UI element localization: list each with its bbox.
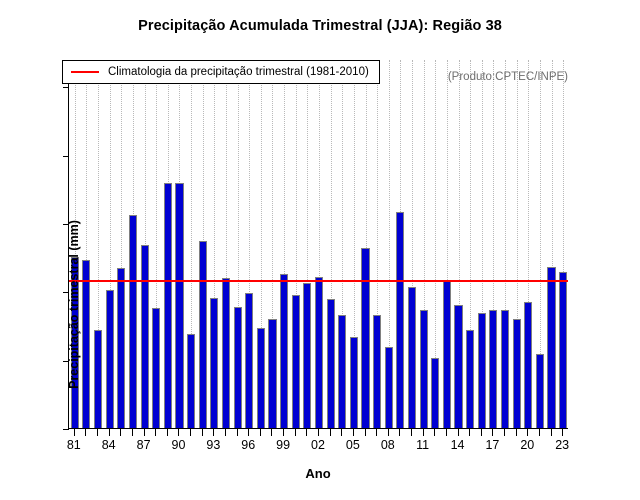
bar: [315, 277, 323, 428]
x-tick-mark: [318, 429, 319, 436]
bar: [141, 245, 149, 428]
x-tick-mark: [295, 429, 296, 436]
x-tick-mark: [306, 429, 307, 436]
x-tick-mark: [341, 429, 342, 436]
climatology-reference-line: [69, 280, 568, 282]
x-axis-label: Ano: [68, 466, 568, 481]
x-tick-mark: [539, 429, 540, 436]
chart-title: Precipitação Acumulada Trimestral (JJA):…: [0, 18, 640, 34]
producer-credit: (Produto:CPTEC/INPE): [448, 71, 568, 83]
bar: [187, 334, 195, 428]
bar: [117, 268, 125, 428]
x-tick-mark: [225, 429, 226, 436]
bar: [373, 315, 381, 428]
bar: [245, 293, 253, 428]
x-tick-mark: [551, 429, 552, 436]
x-tick-mark: [504, 429, 505, 436]
bar: [129, 215, 137, 428]
bar: [257, 328, 265, 428]
x-tick-mark: [388, 429, 389, 436]
bar: [350, 337, 358, 428]
bar: [420, 310, 428, 428]
x-tick-mark: [458, 429, 459, 436]
bar: [210, 298, 218, 428]
x-tick-mark: [423, 429, 424, 436]
bar: [152, 308, 160, 428]
bar: [303, 283, 311, 428]
precipitation-bar-chart-figure: Precipitação Acumulada Trimestral (JJA):…: [0, 0, 640, 500]
legend-label: Climatologia da precipitação trimestral …: [108, 66, 369, 78]
x-tick-mark: [516, 429, 517, 436]
bar: [175, 183, 183, 428]
x-tick-mark: [213, 429, 214, 436]
x-tick-mark: [144, 429, 145, 436]
x-tick-mark: [85, 429, 86, 436]
bar: [431, 358, 439, 428]
bar: [234, 307, 242, 428]
x-tick-mark: [434, 429, 435, 436]
bar: [501, 310, 509, 428]
y-tick-mark: [63, 87, 69, 88]
x-tick-mark: [109, 429, 110, 436]
x-axis-ticks: 818487909396990205081114172023: [68, 429, 568, 469]
x-tick-mark: [492, 429, 493, 436]
legend-line-swatch: [71, 71, 99, 73]
bar: [199, 241, 207, 428]
bar: [280, 274, 288, 428]
x-tick-label: 23: [542, 438, 582, 452]
x-tick-mark: [97, 429, 98, 436]
x-tick-mark: [260, 429, 261, 436]
bar: [164, 183, 172, 428]
x-tick-mark: [132, 429, 133, 436]
x-tick-mark: [481, 429, 482, 436]
x-tick-mark: [469, 429, 470, 436]
bar: [547, 267, 555, 428]
x-tick-mark: [376, 429, 377, 436]
x-tick-mark: [202, 429, 203, 436]
bar: [454, 305, 462, 428]
bar: [489, 310, 497, 428]
bar: [361, 248, 369, 428]
bar: [94, 330, 102, 428]
x-tick-mark: [365, 429, 366, 436]
x-tick-mark: [237, 429, 238, 436]
bar: [222, 278, 230, 428]
bar: [478, 313, 486, 428]
bar: [106, 290, 114, 428]
x-tick-mark: [248, 429, 249, 436]
x-tick-mark: [190, 429, 191, 436]
bar-series: [69, 60, 568, 428]
bar: [268, 319, 276, 428]
bar: [466, 330, 474, 428]
x-tick-mark: [446, 429, 447, 436]
bar: [292, 295, 300, 428]
bar: [513, 319, 521, 428]
bar: [443, 280, 451, 428]
bar: [559, 272, 567, 428]
plot-inner: [69, 60, 568, 428]
bar: [327, 299, 335, 428]
x-tick-mark: [562, 429, 563, 436]
x-tick-mark: [271, 429, 272, 436]
x-tick-mark: [330, 429, 331, 436]
plot-area: 0100200300400500 Precipitação trimestral…: [68, 60, 568, 429]
x-tick-mark: [178, 429, 179, 436]
x-tick-mark: [74, 429, 75, 436]
bar: [524, 302, 532, 428]
x-tick-mark: [283, 429, 284, 436]
bar: [396, 212, 404, 428]
bar: [536, 354, 544, 428]
bar: [338, 315, 346, 428]
legend: Climatologia da precipitação trimestral …: [62, 60, 380, 84]
bar: [408, 287, 416, 428]
x-tick-mark: [167, 429, 168, 436]
x-tick-mark: [527, 429, 528, 436]
x-tick-mark: [155, 429, 156, 436]
x-tick-mark: [399, 429, 400, 436]
bar: [385, 347, 393, 428]
x-tick-mark: [120, 429, 121, 436]
x-tick-mark: [411, 429, 412, 436]
x-tick-mark: [353, 429, 354, 436]
